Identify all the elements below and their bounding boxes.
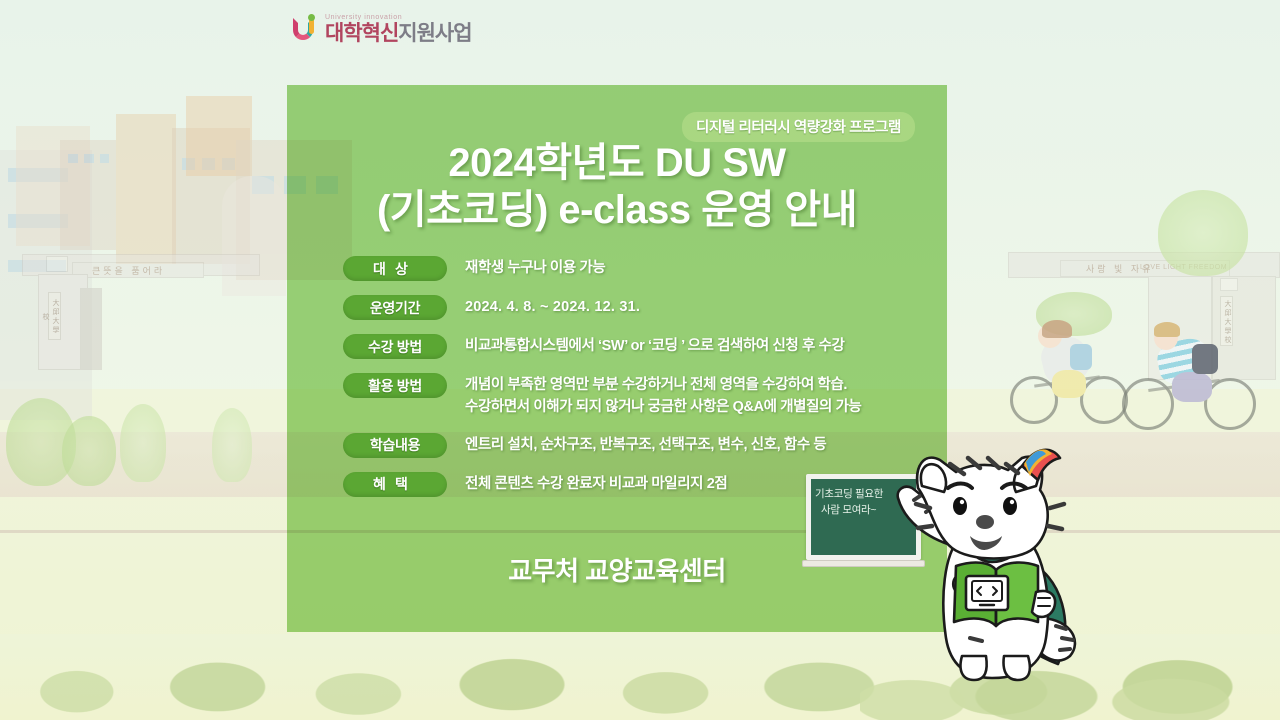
row-label-how-to-use: 활용 방법 — [343, 373, 447, 398]
logo-korean-text: 대학혁신지원사업 — [325, 23, 472, 44]
cyclist-male-backpack — [1192, 344, 1218, 374]
row-label-period: 운영기간 — [343, 295, 447, 320]
building-center-tall — [116, 114, 176, 264]
row-value-how-to-enroll: 비교과통합시스템에서 ‘SW’ or ‘코딩 ’ 으로 검색하여 신청 후 수강 — [465, 334, 844, 358]
program-category-badge: 디지털 리터러시 역량강화 프로그램 — [682, 112, 915, 142]
cyclist-female-legs — [1052, 370, 1086, 398]
title-line-1: 2024학년도 DU SW — [287, 140, 947, 187]
row-value-line: 비교과통합시스템에서 ‘SW’ or ‘코딩 ’ 으로 검색하여 신청 후 수강 — [465, 336, 844, 358]
white-tiger-mascot — [896, 442, 1096, 684]
row-value-target: 재학생 누구나 이용 가능 — [465, 256, 605, 280]
tree-left-2 — [62, 416, 116, 486]
table-row: 수강 방법 비교과통합시스템에서 ‘SW’ or ‘코딩 ’ 으로 검색하여 신… — [343, 334, 943, 359]
cyclist-male — [1122, 322, 1272, 442]
table-row: 활용 방법 개념이 부족한 영역만 부분 수강하거나 전체 영역을 수강하여 학… — [343, 373, 943, 419]
tree-right-2 — [1158, 190, 1248, 276]
row-label-benefit: 혜택 — [343, 472, 447, 497]
mascot-eye-right — [1003, 497, 1017, 515]
logo-korean-part-b: 지원사업 — [398, 22, 471, 45]
table-row: 운영기간 2024. 4. 8. ~ 2024. 12. 31. — [343, 295, 943, 320]
row-value-line: 수강하면서 이해가 되지 않거나 궁금한 사항은 Q&A에 개별질의 가능 — [465, 397, 862, 419]
title-line-2: (기초코딩) e-class 운영 안내 — [287, 187, 947, 234]
page-title: 2024학년도 DU SW (기초코딩) e-class 운영 안내 — [287, 140, 947, 234]
mascot-leg-right — [1004, 656, 1030, 680]
gate-left-text: 큰뜻을 품어라 — [92, 264, 165, 277]
mascot-leg-left — [961, 656, 987, 680]
cyclist-female-backpack — [1070, 344, 1092, 370]
poster-root: 큰뜻을 품어라 大邱大學校 사랑 빛 자유 LOVE LIGHT FREEDOM… — [0, 0, 1280, 720]
uj-monogram-icon — [293, 14, 319, 44]
cyclist-male-hair — [1154, 322, 1180, 337]
university-innovation-logo: University innovation 대학혁신지원사업 — [293, 14, 472, 44]
row-value-line: 2024. 4. 8. ~ 2024. 12. 31. — [465, 297, 640, 319]
row-value-curriculum: 엔트리 설치, 순차구조, 반복구조, 선택구조, 변수, 신호, 함수 등 — [465, 433, 826, 457]
row-label-target: 대상 — [343, 256, 447, 281]
row-value-line: 전체 콘텐츠 수강 완료자 비교과 마일리지 2점 — [465, 474, 727, 496]
info-table: 대상 재학생 누구나 이용 가능 운영기간 2024. 4. 8. ~ 2024… — [343, 256, 943, 511]
row-value-line: 개념이 부족한 영역만 부분 수강하거나 전체 영역을 수강하여 학습. — [465, 375, 862, 397]
mascot-nose — [976, 515, 994, 529]
gate-left-plaque: 大邱大學校 — [48, 292, 61, 340]
row-label-how-to-enroll: 수강 방법 — [343, 334, 447, 359]
row-value-period: 2024. 4. 8. ~ 2024. 12. 31. — [465, 295, 640, 319]
row-value-line: 엔트리 설치, 순차구조, 반복구조, 선택구조, 변수, 신호, 함수 등 — [465, 435, 826, 457]
row-label-benefit-text: 혜택 — [373, 474, 417, 494]
mascot-eye-left — [953, 497, 967, 515]
tree-left-3 — [120, 404, 166, 482]
table-row: 대상 재학생 누구나 이용 가능 — [343, 256, 943, 281]
campus-gate-left: 큰뜻을 품어라 大邱大學校 — [22, 254, 260, 372]
building-left-3 — [60, 140, 116, 250]
mascot-ear-left — [921, 464, 946, 492]
tree-left-4 — [212, 408, 252, 482]
row-value-how-to-use: 개념이 부족한 영역만 부분 수강하거나 전체 영역을 수강하여 학습. 수강하… — [465, 373, 862, 419]
table-row: 학습내용 엔트리 설치, 순차구조, 반복구조, 선택구조, 변수, 신호, 함… — [343, 433, 943, 458]
cyclist-female-hair — [1042, 320, 1072, 338]
row-label-target-text: 대상 — [373, 259, 417, 279]
row-value-benefit: 전체 콘텐츠 수강 완료자 비교과 마일리지 2점 — [465, 472, 727, 496]
logo-english-text: University innovation — [325, 14, 472, 21]
logo-korean-part-a: 대학혁신 — [325, 22, 398, 45]
row-label-curriculum: 학습내용 — [343, 433, 447, 458]
cyclist-male-legs — [1172, 372, 1212, 402]
mascot-hand-right — [1032, 591, 1055, 617]
row-value-line: 재학생 누구나 이용 가능 — [465, 258, 605, 280]
cyclist-female — [1008, 318, 1138, 436]
